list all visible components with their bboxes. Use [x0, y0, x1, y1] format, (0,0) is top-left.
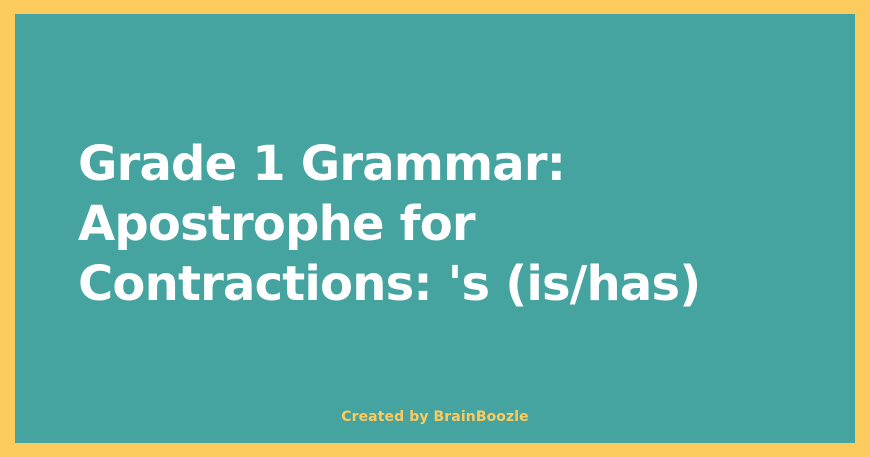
created-by-credit: Created by BrainBoozle — [341, 407, 529, 427]
title-line-1: Grade 1 Grammar: — [78, 134, 838, 194]
slide-footer: Created by BrainBoozle — [15, 406, 855, 427]
title-line-2: Apostrophe for — [78, 194, 838, 254]
title-line-3: Contractions: 's (is/has) — [78, 254, 838, 314]
title-slide: Grade 1 Grammar: Apostrophe for Contract… — [0, 0, 870, 457]
slide-title: Grade 1 Grammar: Apostrophe for Contract… — [78, 134, 838, 314]
slide-content-panel: Grade 1 Grammar: Apostrophe for Contract… — [15, 14, 855, 443]
